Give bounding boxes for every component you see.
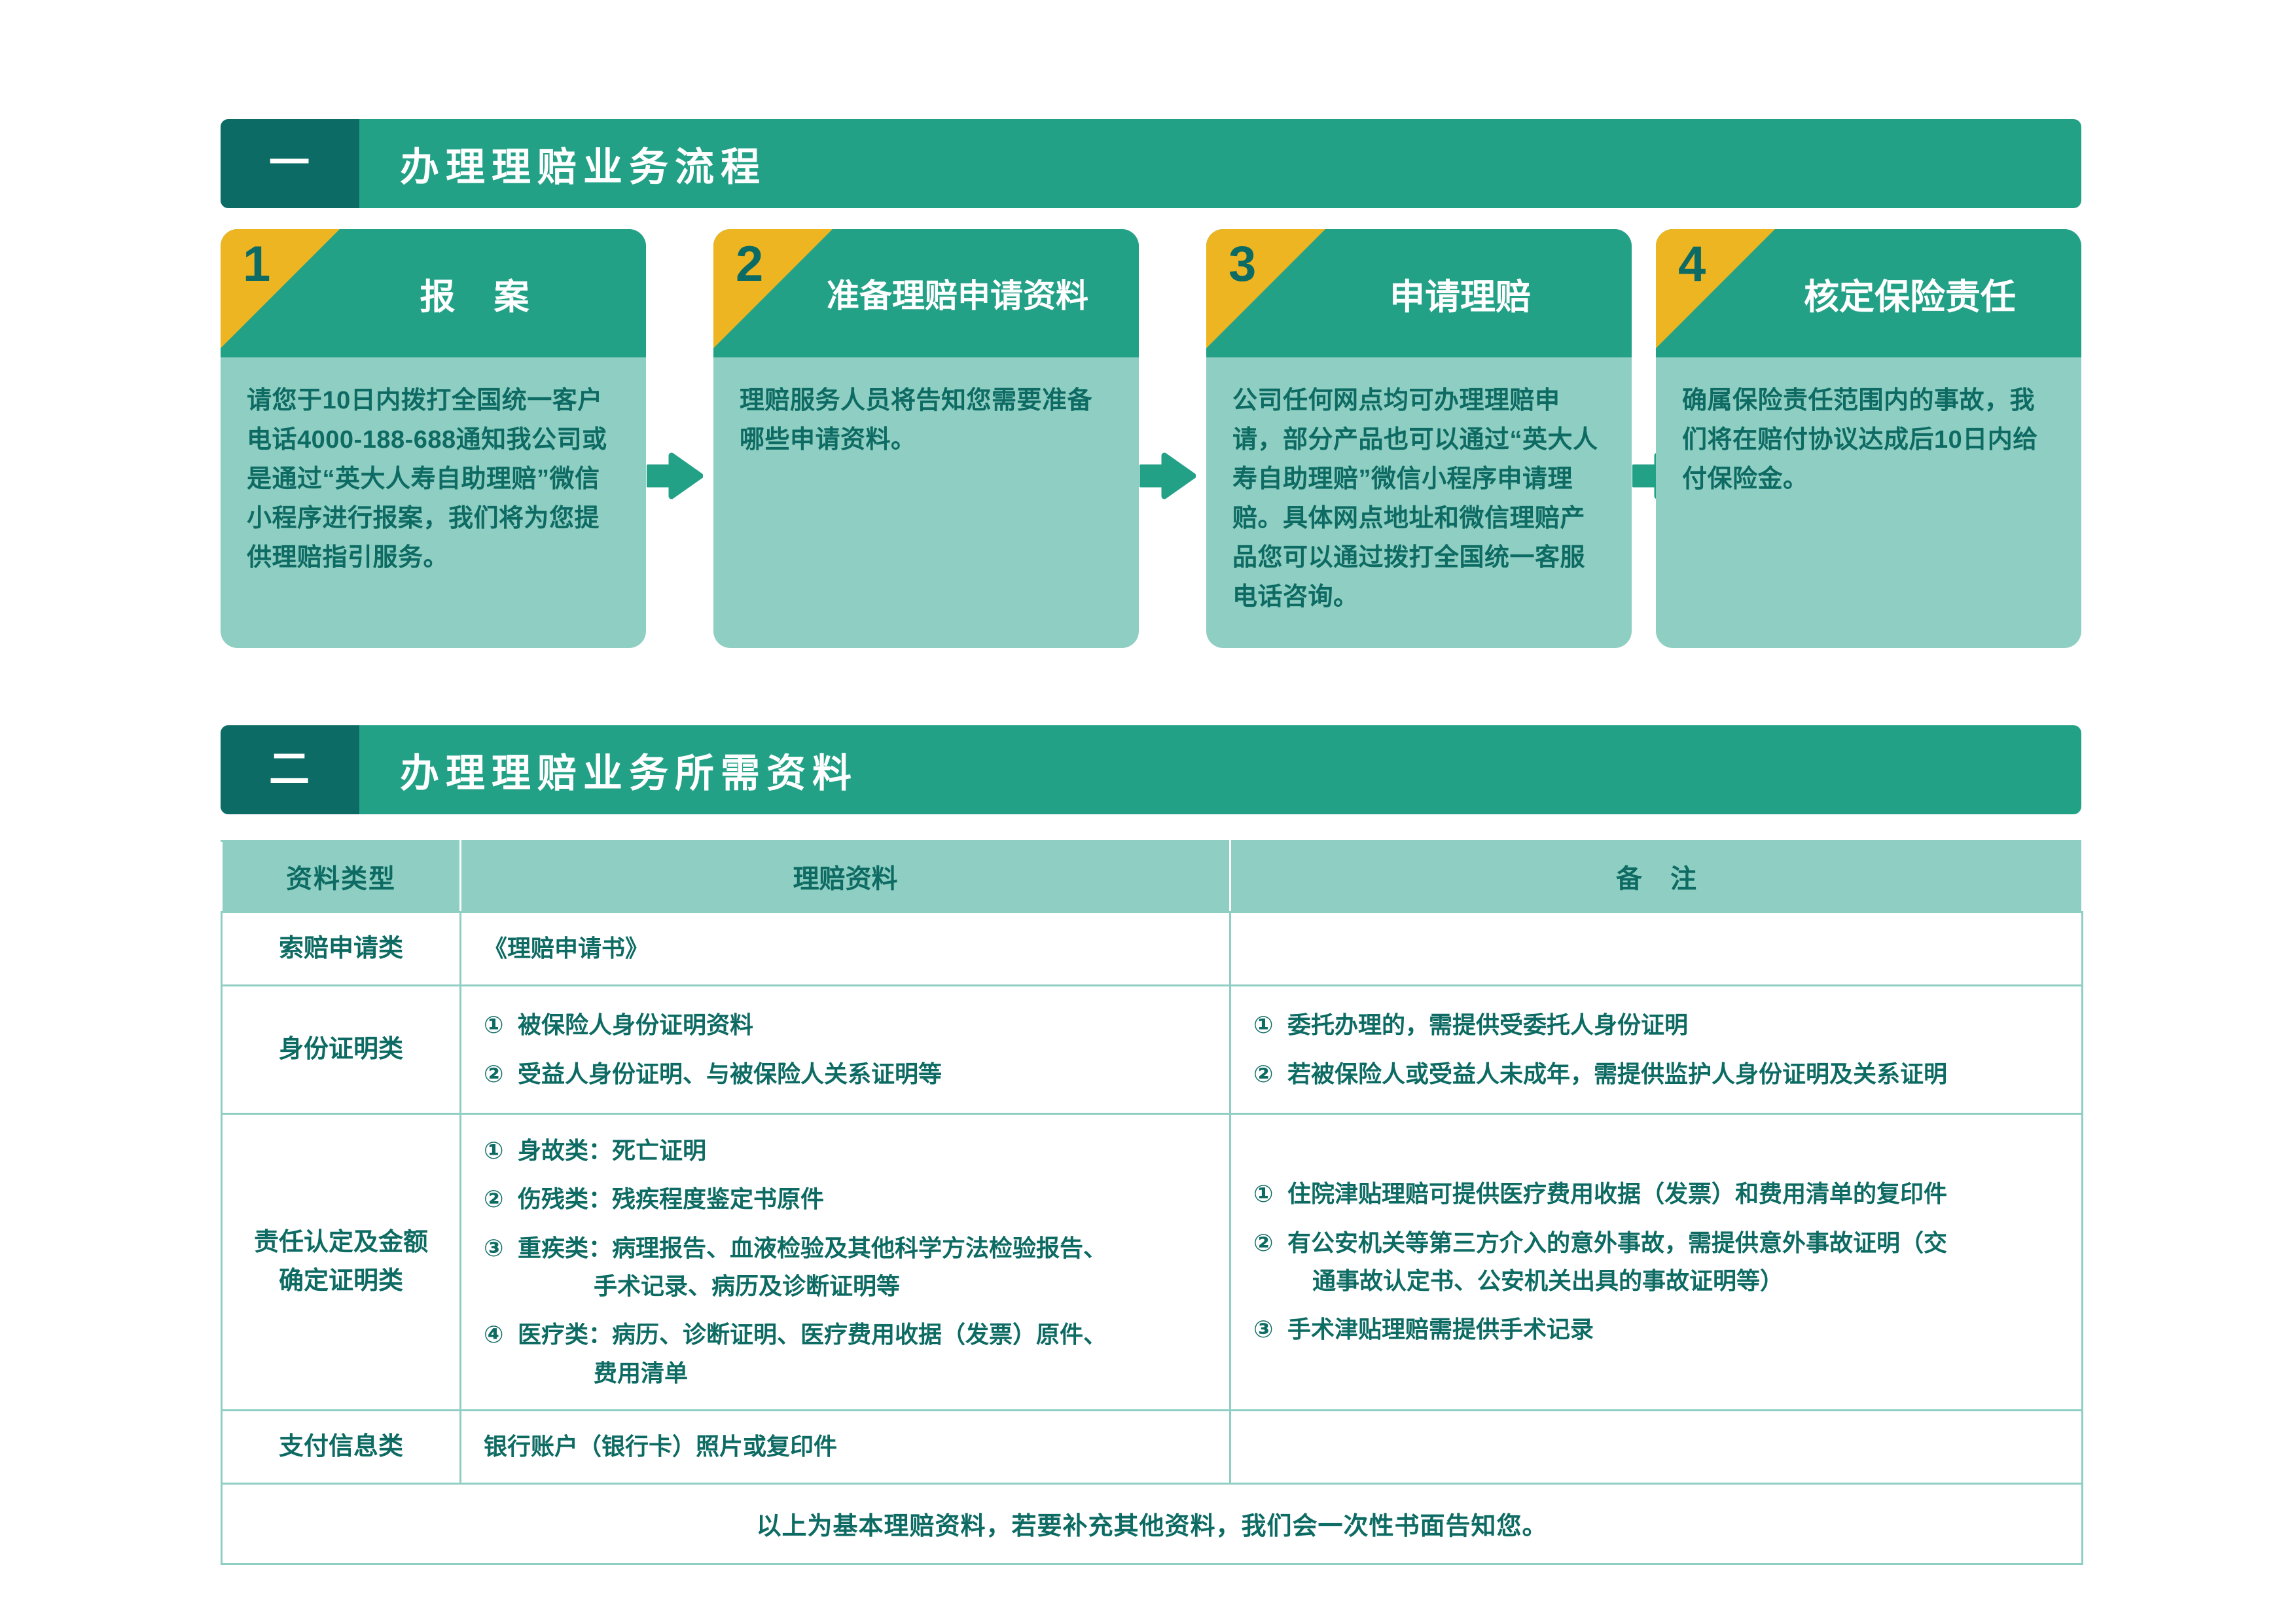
flow-card-2-title: 准备理赔申请资料 — [713, 270, 1139, 317]
flow-card-3-head: 3 申请理赔 — [1206, 229, 1632, 357]
material-item: 《理赔申请书》 — [484, 929, 1207, 967]
flow-card-1-title: 报 案 — [221, 268, 646, 319]
flow-card-2-body: 理赔服务人员将告知您需要准备哪些申请资料。 — [713, 357, 1139, 648]
list-item: ② 若被保险人或受益人未成年，需提供监护人身份证明及关系证明 — [1253, 1055, 2059, 1093]
list-marker: ④ — [484, 1316, 518, 1354]
list-item: ③ 重疾类：病理报告、血液检验及其他科学方法检验报告、 手术记录、病历及诊断证明… — [484, 1229, 1207, 1306]
list-marker: ② — [484, 1180, 518, 1218]
list-marker: ③ — [1253, 1310, 1287, 1348]
section-numeral-2: 二 — [269, 749, 311, 790]
list-marker: ② — [1253, 1055, 1287, 1093]
row-note-claim-application — [1230, 912, 2083, 986]
list-marker: ② — [484, 1055, 518, 1093]
row-materials-payment-info: 银行账户（银行卡）照片或复印件 — [461, 1410, 1230, 1483]
column-header-type: 资料类型 — [222, 841, 461, 912]
section-title-2: 办理理赔业务所需资料 — [359, 725, 2081, 814]
row-type-claim-application: 索赔申请类 — [222, 912, 461, 986]
column-header-note: 备 注 — [1230, 841, 2083, 912]
flow-card-4: 4 核定保险责任 确属保险责任范围内的事故，我们将在赔付协议达成后10日内给付保… — [1656, 229, 2081, 648]
list-item: ① 住院津贴理赔可提供医疗费用收据（发票）和费用清单的复印件 — [1253, 1175, 2059, 1213]
flow-card-2-head: 2 准备理赔申请资料 — [713, 229, 1139, 357]
row-note-payment-info — [1230, 1410, 2083, 1483]
list-item: ① 委托办理的，需提供受委托人身份证明 — [1253, 1006, 2059, 1044]
flow-card-1-body: 请您于10日内拨打全国统一客户电话4000-188-688通知我公司或是通过“英… — [221, 357, 646, 648]
list-text: 住院津贴理赔可提供医疗费用收据（发票）和费用清单的复印件 — [1287, 1175, 2059, 1213]
section-header-process: 一 办理理赔业务流程 — [221, 119, 2081, 208]
flow-card-2: 2 准备理赔申请资料 理赔服务人员将告知您需要准备哪些申请资料。 — [713, 229, 1139, 648]
table-header-row: 资料类型 理赔资料 备 注 — [222, 841, 2083, 912]
flow-card-1: 1 报 案 请您于10日内拨打全国统一客户电话4000-188-688通知我公司… — [221, 229, 646, 648]
table-row: 身份证明类 ① 被保险人身份证明资料 ② 受益人身份证明、与被保险人关系证明等 … — [222, 986, 2083, 1114]
flow-card-3-body: 公司任何网点均可办理理赔申请，部分产品也可以通过“英大人寿自助理赔”微信小程序申… — [1206, 357, 1632, 648]
list-text-continuation: 通事故认定书、公安机关出具的事故证明等） — [1287, 1262, 2059, 1300]
list-item: ① 被保险人身份证明资料 — [484, 1006, 1207, 1044]
list-item: ① 身故类：死亡证明 — [484, 1132, 1207, 1170]
flow-arrow-2-to-3 — [1139, 452, 1196, 500]
flow-card-3-number: 3 — [1229, 240, 1256, 289]
list-text-continuation: 费用清单 — [518, 1354, 1207, 1392]
section-numeral-block-1: 一 — [221, 119, 359, 208]
list-marker: ① — [1253, 1006, 1287, 1044]
list-text: 委托办理的，需提供受委托人身份证明 — [1287, 1006, 2059, 1044]
flow-card-4-body: 确属保险责任范围内的事故，我们将在赔付协议达成后10日内给付保险金。 — [1656, 357, 2081, 648]
column-header-materials: 理赔资料 — [461, 841, 1230, 912]
flow-card-2-number: 2 — [736, 240, 763, 289]
list-marker: ② — [1253, 1224, 1287, 1262]
list-marker: ③ — [484, 1229, 518, 1267]
claims-process-infographic: 一 办理理赔业务流程 1 报 案 请您于10日内拨打全国统一客户电话4000-1… — [0, 0, 2296, 1624]
row-materials-liability-amount-proof: ① 身故类：死亡证明 ② 伤残类：残疾程度鉴定书原件 ③ 重疾类：病理报告、血液… — [461, 1114, 1230, 1411]
row-note-identity-proof: ① 委托办理的，需提供受委托人身份证明 ② 若被保险人或受益人未成年，需提供监护… — [1230, 986, 2083, 1114]
list-text-main: 重疾类：病理报告、血液检验及其他科学方法检验报告、 — [518, 1235, 1107, 1261]
row-type-line-2: 确定证明类 — [229, 1262, 453, 1301]
row-type-line-1: 责任认定及金额 — [229, 1223, 453, 1262]
section-numeral-1: 一 — [269, 143, 311, 184]
list-marker: ① — [1253, 1175, 1287, 1213]
list-item: ② 受益人身份证明、与被保险人关系证明等 — [484, 1055, 1207, 1093]
list-text: 受益人身份证明、与被保险人关系证明等 — [518, 1055, 1207, 1093]
list-text: 伤残类：残疾程度鉴定书原件 — [518, 1180, 1207, 1218]
flow-card-3: 3 申请理赔 公司任何网点均可办理理赔申请，部分产品也可以通过“英大人寿自助理赔… — [1206, 229, 1632, 648]
list-item: ② 伤残类：残疾程度鉴定书原件 — [484, 1180, 1207, 1218]
table-row: 支付信息类 银行账户（银行卡）照片或复印件 — [222, 1410, 2083, 1483]
flow-card-4-number: 4 — [1678, 240, 1706, 289]
section-title-1: 办理理赔业务流程 — [359, 119, 2081, 208]
list-text: 手术津贴理赔需提供手术记录 — [1287, 1310, 2059, 1348]
row-note-liability-amount-proof: ① 住院津贴理赔可提供医疗费用收据（发票）和费用清单的复印件 ② 有公安机关等第… — [1230, 1114, 2083, 1411]
row-materials-claim-application: 《理赔申请书》 — [461, 912, 1230, 986]
flow-card-4-title: 核定保险责任 — [1656, 268, 2081, 319]
flow-card-4-head: 4 核定保险责任 — [1656, 229, 2081, 357]
list-text-main: 有公安机关等第三方介入的意外事故，需提供意外事故证明（交 — [1287, 1229, 1947, 1256]
list-marker: ① — [484, 1006, 518, 1044]
list-text: 若被保险人或受益人未成年，需提供监护人身份证明及关系证明 — [1287, 1055, 2059, 1093]
list-text: 被保险人身份证明资料 — [518, 1006, 1207, 1044]
section-numeral-block-2: 二 — [221, 725, 359, 814]
flow-card-3-title: 申请理赔 — [1206, 268, 1632, 319]
list-text: 医疗类：病历、诊断证明、医疗费用收据（发票）原件、 费用清单 — [518, 1316, 1207, 1392]
list-marker: ① — [484, 1132, 518, 1170]
list-item: ④ 医疗类：病历、诊断证明、医疗费用收据（发票）原件、 费用清单 — [484, 1316, 1207, 1392]
table-row: 索赔申请类 《理赔申请书》 — [222, 912, 2083, 986]
list-text-continuation: 手术记录、病历及诊断证明等 — [518, 1267, 1207, 1305]
flow-arrow-1-to-2 — [647, 452, 703, 500]
table-footer-note: 以上为基本理赔资料，若要补充其他资料，我们会一次性书面告知您。 — [222, 1483, 2083, 1564]
list-item: ③ 手术津贴理赔需提供手术记录 — [1253, 1310, 2059, 1348]
table-footer-row: 以上为基本理赔资料，若要补充其他资料，我们会一次性书面告知您。 — [222, 1483, 2083, 1564]
row-type-payment-info: 支付信息类 — [222, 1410, 461, 1483]
row-type-identity-proof: 身份证明类 — [222, 986, 461, 1114]
flow-card-1-head: 1 报 案 — [221, 229, 646, 357]
table-row: 责任认定及金额 确定证明类 ① 身故类：死亡证明 ② 伤残类：残疾程度鉴定书原件… — [222, 1114, 2083, 1411]
list-text: 身故类：死亡证明 — [518, 1132, 1207, 1170]
required-materials-table: 资料类型 理赔资料 备 注 索赔申请类 《理赔申请书》 身份证明类 ① — [221, 840, 2083, 1565]
row-materials-identity-proof: ① 被保险人身份证明资料 ② 受益人身份证明、与被保险人关系证明等 — [461, 986, 1230, 1114]
flow-card-1-number: 1 — [243, 240, 270, 289]
material-item: 银行账户（银行卡）照片或复印件 — [484, 1428, 1207, 1466]
list-item: ② 有公安机关等第三方介入的意外事故，需提供意外事故证明（交 通事故认定书、公安… — [1253, 1224, 2059, 1301]
list-text-main: 医疗类：病历、诊断证明、医疗费用收据（发票）原件、 — [518, 1321, 1107, 1348]
section-header-materials: 二 办理理赔业务所需资料 — [221, 725, 2081, 814]
list-text: 有公安机关等第三方介入的意外事故，需提供意外事故证明（交 通事故认定书、公安机关… — [1287, 1224, 2059, 1301]
list-text: 重疾类：病理报告、血液检验及其他科学方法检验报告、 手术记录、病历及诊断证明等 — [518, 1229, 1207, 1306]
row-type-liability-amount-proof: 责任认定及金额 确定证明类 — [222, 1114, 461, 1411]
